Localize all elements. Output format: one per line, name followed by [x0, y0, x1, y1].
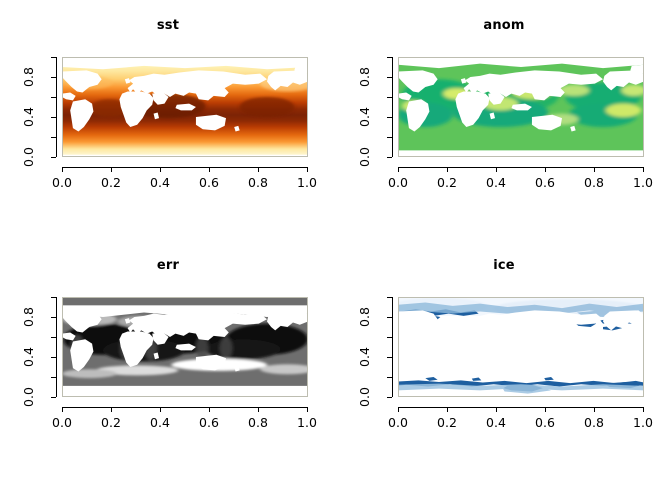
- y-tick-err-0: [51, 397, 56, 398]
- x-tick-label-anom-3: 0.6: [523, 176, 567, 190]
- x-tick-label-err-3: 0.6: [187, 416, 231, 430]
- y-tick-label-err-1: 0.4: [22, 337, 36, 377]
- panel-anom: anom: [336, 0, 672, 240]
- x-axis-line-ice: [398, 407, 644, 408]
- y-tick-label-sst-2: 0.8: [22, 57, 36, 97]
- panel-title-ice: ice: [336, 258, 672, 274]
- panel-err: err: [0, 240, 336, 480]
- panel-title-sst: sst: [0, 18, 336, 34]
- x-tick-label-err-1: 0.2: [89, 416, 133, 430]
- y-axis-line-anom: [392, 57, 393, 157]
- x-tick-err-4: [258, 407, 259, 412]
- y-tick-anom-0: [387, 157, 392, 158]
- x-tick-label-err-2: 0.4: [138, 416, 182, 430]
- y-tick-label-sst-0: 0.0: [22, 137, 36, 177]
- x-tick-sst-4: [258, 167, 259, 172]
- y-tick-ice-2: [387, 357, 392, 358]
- raster-image-ice: [398, 297, 644, 397]
- raster-image-err: [62, 297, 308, 397]
- plot-area-anom: [398, 57, 644, 157]
- y-tick-err-1: [51, 377, 56, 378]
- x-tick-ice-5: [643, 407, 644, 412]
- x-axis-line-sst: [62, 167, 308, 168]
- y-tick-sst-2: [51, 117, 56, 118]
- x-tick-label-err-0: 0.0: [40, 416, 84, 430]
- x-tick-ice-1: [447, 407, 448, 412]
- x-tick-label-sst-2: 0.4: [138, 176, 182, 190]
- y-tick-ice-4: [387, 317, 392, 318]
- y-tick-anom-2: [387, 117, 392, 118]
- x-tick-sst-1: [111, 167, 112, 172]
- x-tick-label-anom-2: 0.4: [474, 176, 518, 190]
- x-tick-anom-2: [496, 167, 497, 172]
- x-tick-label-sst-5: 1.0: [285, 176, 329, 190]
- raster-image-sst: [62, 57, 308, 157]
- y-axis-line-err: [56, 297, 57, 397]
- x-tick-label-ice-5: 1.0: [621, 416, 665, 430]
- y-tick-sst-0: [51, 157, 56, 158]
- land-mask-ice: [398, 310, 644, 377]
- x-tick-label-anom-5: 1.0: [621, 176, 665, 190]
- x-tick-err-0: [62, 407, 63, 412]
- plot-area-sst: [62, 57, 308, 157]
- x-tick-anom-4: [594, 167, 595, 172]
- x-tick-label-sst-4: 0.8: [236, 176, 280, 190]
- y-tick-label-anom-1: 0.4: [358, 97, 372, 137]
- y-tick-ice-0: [387, 397, 392, 398]
- x-axis-line-anom: [398, 167, 644, 168]
- x-tick-anom-0: [398, 167, 399, 172]
- y-tick-ice-5: [387, 297, 392, 298]
- x-tick-err-1: [111, 407, 112, 412]
- x-tick-err-3: [209, 407, 210, 412]
- x-tick-err-2: [160, 407, 161, 412]
- x-tick-sst-3: [209, 167, 210, 172]
- x-tick-label-err-5: 1.0: [285, 416, 329, 430]
- x-tick-label-anom-1: 0.2: [425, 176, 469, 190]
- x-tick-label-anom-4: 0.8: [572, 176, 616, 190]
- y-axis-line-sst: [56, 57, 57, 157]
- panel-title-err: err: [0, 258, 336, 274]
- figure-canvas: sst: [0, 0, 672, 480]
- x-tick-label-err-4: 0.8: [236, 416, 280, 430]
- y-tick-anom-5: [387, 57, 392, 58]
- x-tick-label-ice-1: 0.2: [425, 416, 469, 430]
- x-tick-label-ice-4: 0.8: [572, 416, 616, 430]
- y-tick-sst-1: [51, 137, 56, 138]
- x-tick-sst-2: [160, 167, 161, 172]
- y-tick-anom-1: [387, 137, 392, 138]
- panel-title-anom: anom: [336, 18, 672, 34]
- x-tick-sst-0: [62, 167, 63, 172]
- y-tick-err-3: [51, 337, 56, 338]
- x-tick-label-sst-1: 0.2: [89, 176, 133, 190]
- x-tick-err-5: [307, 407, 308, 412]
- y-tick-label-sst-1: 0.4: [22, 97, 36, 137]
- y-tick-ice-3: [387, 337, 392, 338]
- x-tick-label-ice-3: 0.6: [523, 416, 567, 430]
- x-tick-anom-5: [643, 167, 644, 172]
- y-tick-anom-3: [387, 97, 392, 98]
- plot-area-err: [62, 297, 308, 397]
- y-tick-err-4: [51, 317, 56, 318]
- x-tick-label-ice-0: 0.0: [376, 416, 420, 430]
- y-tick-label-anom-0: 0.0: [358, 137, 372, 177]
- x-tick-ice-3: [545, 407, 546, 412]
- x-tick-ice-0: [398, 407, 399, 412]
- x-tick-anom-3: [545, 167, 546, 172]
- x-tick-sst-5: [307, 167, 308, 172]
- y-tick-label-ice-1: 0.4: [358, 337, 372, 377]
- y-tick-sst-5: [51, 57, 56, 58]
- y-tick-label-anom-2: 0.8: [358, 57, 372, 97]
- y-tick-sst-3: [51, 97, 56, 98]
- panel-sst: sst: [0, 0, 336, 240]
- x-tick-label-sst-3: 0.6: [187, 176, 231, 190]
- y-tick-anom-4: [387, 77, 392, 78]
- y-tick-err-5: [51, 297, 56, 298]
- x-tick-label-anom-0: 0.0: [376, 176, 420, 190]
- y-tick-label-err-2: 0.8: [22, 297, 36, 337]
- panel-ice: ice: [336, 240, 672, 480]
- y-tick-label-ice-0: 0.0: [358, 377, 372, 417]
- x-tick-label-ice-2: 0.4: [474, 416, 518, 430]
- y-tick-ice-1: [387, 377, 392, 378]
- y-tick-err-2: [51, 357, 56, 358]
- plot-area-ice: [398, 297, 644, 397]
- y-axis-line-ice: [392, 297, 393, 397]
- x-tick-ice-2: [496, 407, 497, 412]
- y-tick-label-err-0: 0.0: [22, 377, 36, 417]
- x-axis-line-err: [62, 407, 308, 408]
- x-tick-ice-4: [594, 407, 595, 412]
- y-tick-label-ice-2: 0.8: [358, 297, 372, 337]
- x-tick-anom-1: [447, 167, 448, 172]
- x-tick-label-sst-0: 0.0: [40, 176, 84, 190]
- y-tick-sst-4: [51, 77, 56, 78]
- raster-image-anom: [398, 57, 644, 157]
